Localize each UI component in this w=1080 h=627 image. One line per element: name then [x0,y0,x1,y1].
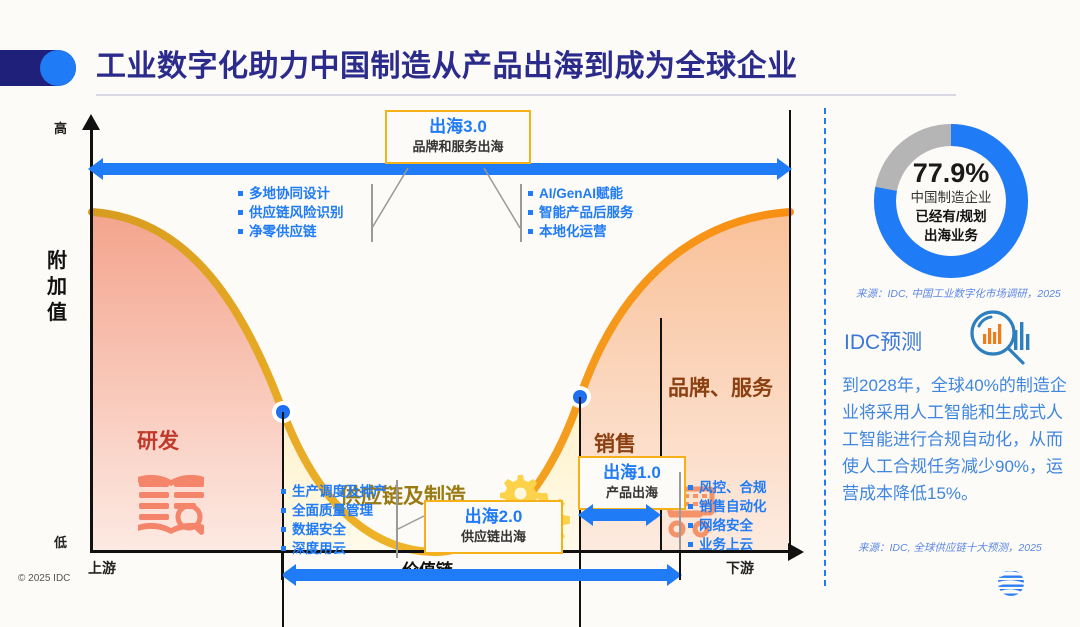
stat-donut-chart: 77.9% 中国制造企业 已经有/规划 出海业务 [858,118,1044,284]
bullet-item: 网络安全 [688,516,767,535]
wave2-right-tick [679,552,681,580]
callout-wave3: 出海3.0 品牌和服务出海 [385,110,531,164]
callout-wave2: 出海2.0 供应链出海 [424,500,563,554]
bullets-brand-rule [520,184,522,242]
callout-wave1-title: 出海1.0 [590,462,674,484]
bullets-brand: AI/GenAI赋能 智能产品后服务 本地化运营 [528,184,634,241]
copyright-text: © 2025 IDC [18,573,70,584]
x-axis-downstream-label: 下游 [726,558,754,578]
callout-wave2-subtitle: 供应链出海 [436,528,551,546]
stat-line-2: 已经有/规划 [915,207,986,226]
bullets-manufacturing: 生产调度及排产 全面质量管理 数据安全 深度用云 [281,482,387,558]
forecast-heading: IDC预测 [844,326,922,356]
y-axis-title: 附加值 [46,248,68,326]
panel-divider [824,108,826,586]
callout-wave2-title: 出海2.0 [436,506,551,528]
callout-wave3-title: 出海3.0 [397,116,519,138]
callout-wave1: 出海1.0 产品出海 [578,456,686,510]
right-sidebar: 77.9% 中国制造企业 已经有/规划 出海业务 来源：IDC, 中国工业数字化… [824,100,1080,600]
bullet-item: 风控、合规 [688,478,767,497]
header-badge-icon [0,50,76,86]
bullet-item: 供应链风险识别 [238,203,344,222]
wave2-left-tick [281,552,283,580]
callout-wave3-subtitle: 品牌和服务出海 [397,138,519,156]
x-axis-upstream-label: 上游 [88,558,116,578]
segment-label-rd: 研发 [137,425,179,455]
bullets-sales: 风控、合规 销售自动化 网络安全 业务上云 [688,478,767,554]
page-header: 工业数字化助力中国制造从产品出海到成为全球企业 [0,42,1080,94]
stat-line-3: 出海业务 [924,226,978,245]
idc-globe-logo [996,568,1026,598]
bullet-item: 全面质量管理 [281,501,387,520]
bullet-item: 业务上云 [688,535,767,554]
segment-label-sales: 销售 [594,428,636,458]
y-axis-high-label: 高 [54,118,67,137]
forecast-source: 来源：IDC, 全球供应链十大预测，2025 [858,540,1042,555]
bullet-item: 智能产品后服务 [528,203,634,222]
slide-root: 工业数字化助力中国制造从产品出海到成为全球企业 [0,0,1080,608]
bullets-rd: 多地协同设计 供应链风险识别 净零供应链 [238,184,344,241]
stat-percent: 77.9% [913,158,990,188]
bullet-item: 深度用云 [281,539,387,558]
bullets-manufacturing-rule [396,480,398,558]
bullet-item: 净零供应链 [238,222,344,241]
y-axis-arrow-icon [82,114,100,130]
y-axis-line [90,128,93,553]
page-title: 工业数字化助力中国制造从产品出海到成为全球企业 [96,42,798,92]
bullet-item: AI/GenAI赋能 [528,184,634,203]
smile-curve-chart: 高 低 附加值 上游 下游 价值链 研发 供应链及制造 销售 品牌、服务 [0,100,820,600]
bullet-item: 多地协同设计 [238,184,344,203]
rd-book-icon [136,473,208,539]
bullet-item: 数据安全 [281,520,387,539]
segment-label-brand: 品牌、服务 [668,372,773,402]
y-axis-low-label: 低 [54,532,67,551]
stat-source: 来源：IDC, 中国工业数字化市场调研，2025 [856,286,1061,301]
callout-wave1-subtitle: 产品出海 [590,484,674,502]
bullets-sales-rule [679,472,681,550]
magnifier-bar-chart-icon [966,308,1032,368]
bullet-item: 销售自动化 [688,497,767,516]
bullet-item: 本地化运营 [528,222,634,241]
header-divider [96,94,956,96]
forecast-body: 到2028年，全球40%的制造企业将采用人工智能和生成式人工智能进行合规自动化，… [842,372,1074,507]
bullet-item: 生产调度及排产 [281,482,387,501]
stat-line-1: 中国制造企业 [911,188,992,207]
bullets-rd-rule [371,184,373,242]
